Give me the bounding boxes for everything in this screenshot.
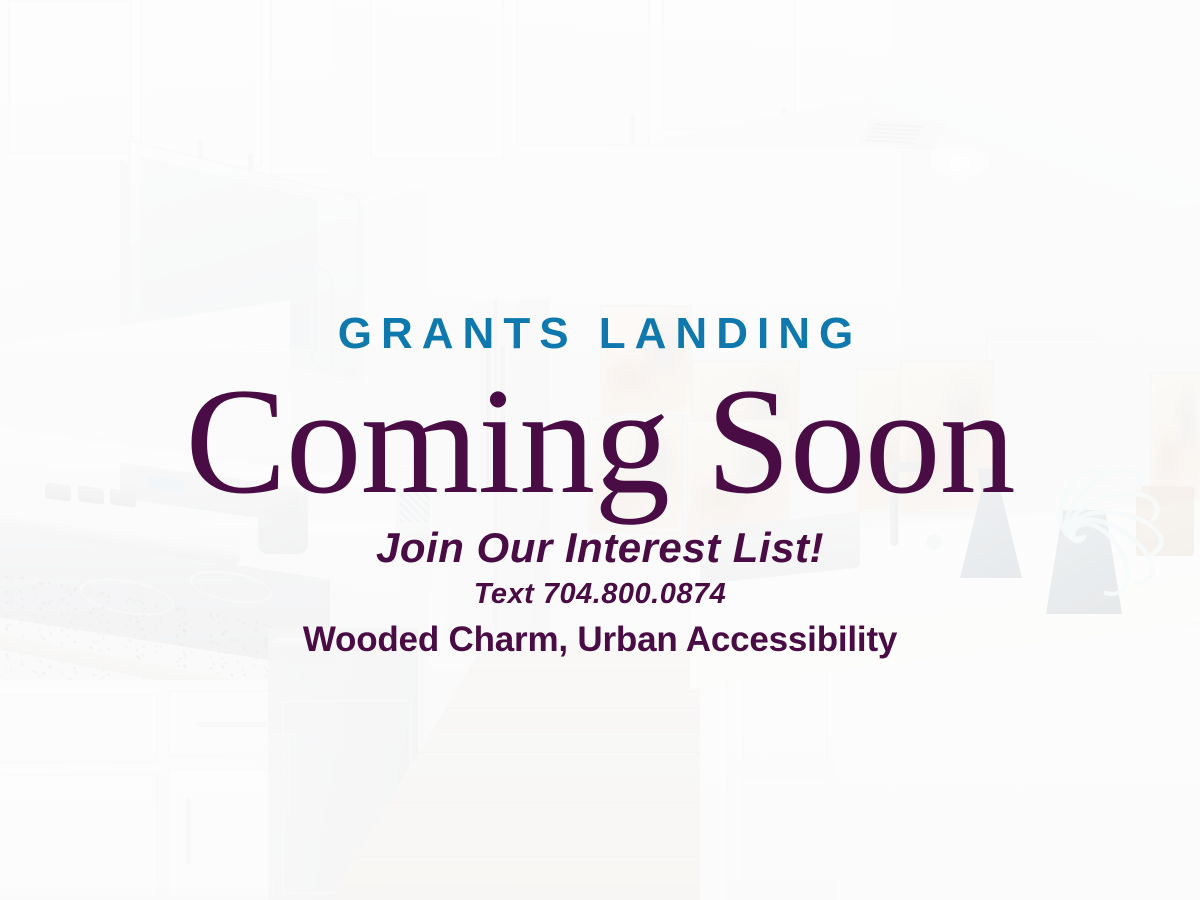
community-name: GRANTS LANDING	[338, 312, 862, 356]
text-overlay: GRANTS LANDING Coming Soon Join Our Inte…	[0, 0, 1200, 900]
coming-soon-poster: GRANTS LANDING Coming Soon Join Our Inte…	[0, 0, 1200, 900]
interest-list-callout: Join Our Interest List!	[376, 525, 824, 571]
text-phone-number[interactable]: Text 704.800.0874	[474, 579, 727, 611]
community-tagline: Wooded Charm, Urban Accessibility	[303, 621, 897, 660]
page-title: Coming Soon	[185, 370, 1014, 513]
